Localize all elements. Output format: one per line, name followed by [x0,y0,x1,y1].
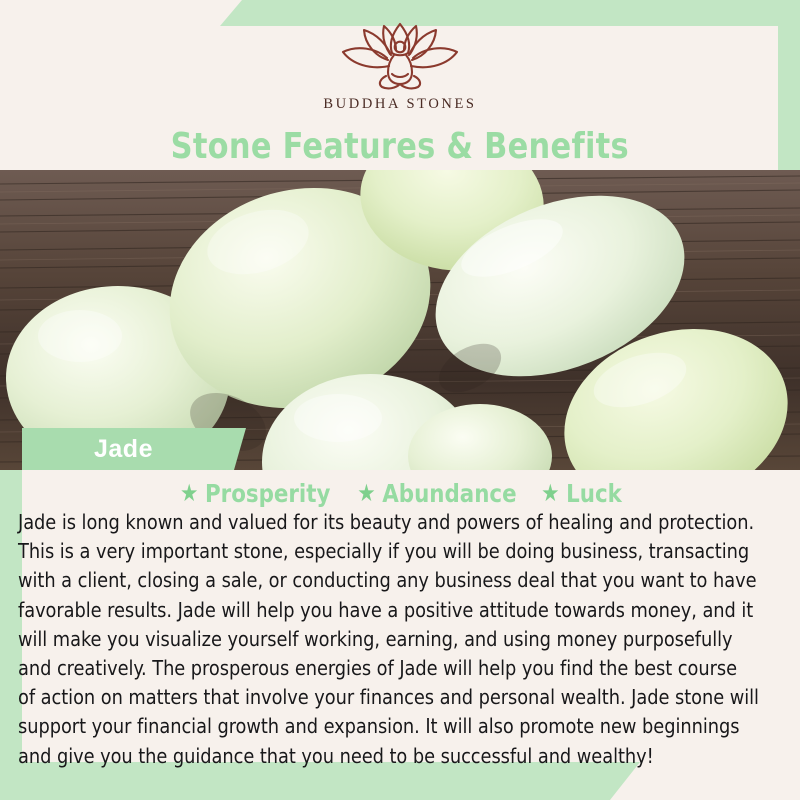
benefit-item-prosperity: ★ Prosperity [180,479,330,508]
infographic-card: BUDDHA STONES Stone Features & Benefits [0,0,800,800]
benefit-label: Luck [566,479,622,508]
stone-description: Jade is long known and valued for its be… [18,508,759,771]
star-icon: ★ [180,481,198,505]
benefit-item-luck: ★ Luck [541,479,622,508]
page-title: Stone Features & Benefits [171,126,629,167]
benefit-label: Abundance [382,479,516,508]
stone-name-badge: Jade [22,428,246,470]
stone-photo [0,170,800,470]
star-icon: ★ [357,481,375,505]
benefits-row: ★ Prosperity ★ Abundance ★ Luck [0,476,800,510]
stone-name-label: Jade [94,435,153,464]
benefit-item-abundance: ★ Abundance [357,479,516,508]
brand-name: BUDDHA STONES [323,96,476,113]
page-title-container: Stone Features & Benefits [0,122,800,170]
benefit-label: Prosperity [205,479,330,508]
lotus-meditation-figure-icon [326,22,474,94]
brand-header: BUDDHA STONES [0,22,800,122]
star-icon: ★ [541,481,559,505]
